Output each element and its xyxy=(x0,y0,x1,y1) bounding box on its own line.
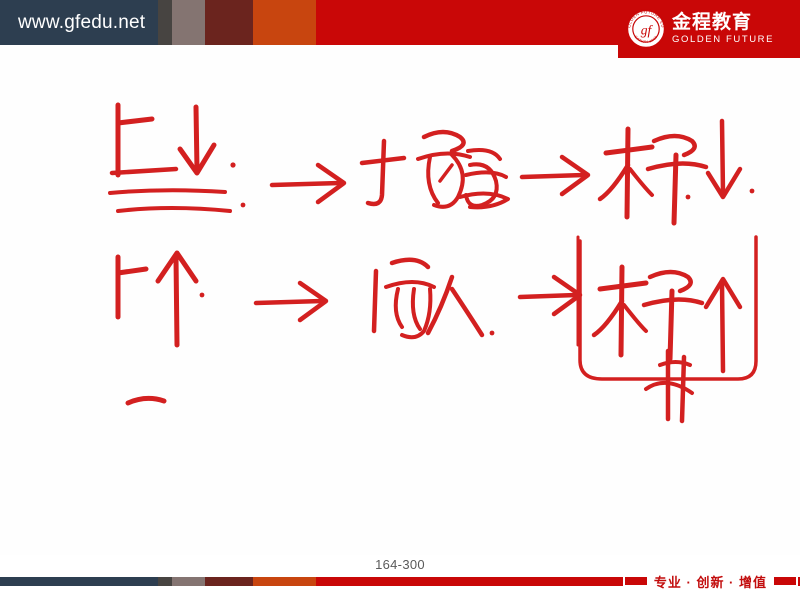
footer-band-navy xyxy=(0,577,158,586)
annotation-line-2 xyxy=(118,237,756,379)
brand-logo-text: 金程教育 GOLDEN FUTURE xyxy=(672,13,774,45)
annotation-line-1 xyxy=(110,105,754,223)
header-band-navy: www.gfedu.net xyxy=(0,0,158,45)
header-band-dark-gray xyxy=(158,0,172,45)
footer-bar: 164-300 专业 · 创新 · 增值 xyxy=(0,555,800,600)
annotation-line-3 xyxy=(646,351,692,421)
site-url-label: www.gfedu.net xyxy=(18,12,145,34)
header-band-maroon xyxy=(205,0,253,45)
tagline-dash-left-icon xyxy=(625,577,647,585)
header-band-orange xyxy=(253,0,316,45)
brand-name-en: GOLDEN FUTURE xyxy=(672,35,774,45)
whiteboard-area xyxy=(0,45,800,555)
footer-band-gray xyxy=(172,577,205,586)
tagline-dash-right-icon xyxy=(774,577,796,585)
brand-logo: GOLDEN FUTURE EDU CATION 1999 gf 金程教育 GO… xyxy=(618,0,800,58)
brand-name-cn: 金程教育 xyxy=(672,13,774,32)
footer-band-maroon xyxy=(205,577,253,586)
annotation-line-4 xyxy=(128,398,164,403)
golden-future-seal-icon: GOLDEN FUTURE EDU CATION 1999 gf xyxy=(626,9,666,49)
handwritten-annotation-layer xyxy=(0,45,800,555)
slide-canvas: www.gfedu.net GOLDEN FUTURE EDU CATIO xyxy=(0,0,800,600)
tagline-text: 专业 · 创新 · 增值 xyxy=(647,572,774,591)
footer-band-orange xyxy=(253,577,316,586)
footer-tagline: 专业 · 创新 · 增值 xyxy=(623,570,798,592)
header-band-gray xyxy=(172,0,205,45)
footer-band-dark-gray xyxy=(158,577,172,586)
